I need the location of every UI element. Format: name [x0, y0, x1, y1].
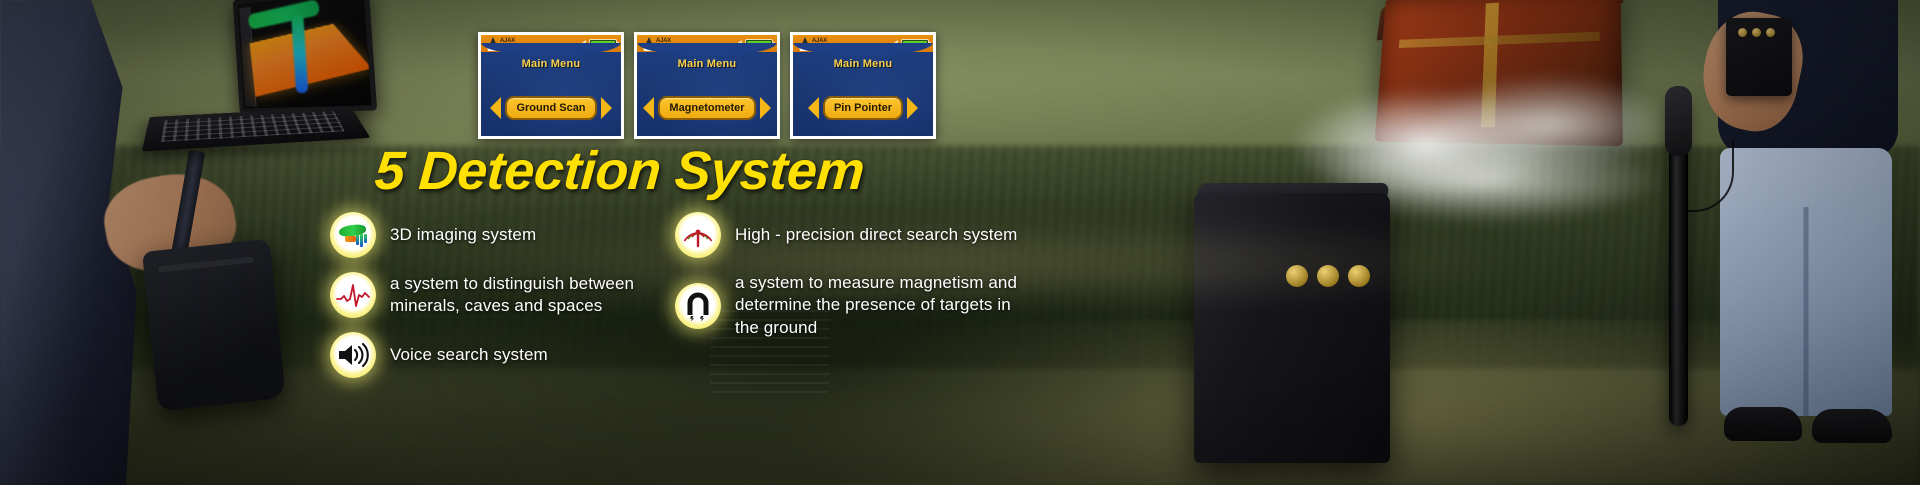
- 3d-terrain-icon: [330, 212, 376, 258]
- horseshoe-magnet-glyph: [685, 291, 711, 321]
- device-menu-panels: AJAX Main Menu Ground Scan AJA: [478, 32, 936, 139]
- panel-title: Main Menu: [793, 58, 933, 70]
- feature-item-mineral-distinction: a system to distinguish between minerals…: [330, 272, 670, 318]
- brand-logo-text: AJAX: [500, 38, 515, 44]
- status-indicators: [736, 39, 773, 48]
- selected-mode-button[interactable]: Ground Scan: [505, 96, 596, 120]
- brand-logo-text: AJAX: [812, 38, 827, 44]
- panel-title: Main Menu: [637, 58, 777, 70]
- mode-selector[interactable]: Ground Scan: [481, 96, 621, 120]
- waveform-icon: [330, 272, 376, 318]
- brand-logo-icon: [641, 36, 657, 51]
- brand-logo-icon: [485, 36, 501, 51]
- product-banner: AJAX Main Menu Ground Scan AJA: [0, 0, 1920, 485]
- status-indicators: [892, 39, 929, 48]
- chevron-left-icon[interactable]: [490, 97, 501, 119]
- device-panel-ground-scan[interactable]: AJAX Main Menu Ground Scan: [478, 32, 624, 139]
- feature-item-voice-search: Voice search system: [330, 332, 670, 378]
- panel-title: Main Menu: [481, 58, 621, 70]
- feature-label: a system to distinguish between minerals…: [390, 273, 670, 318]
- selected-mode-button[interactable]: Pin Pointer: [823, 96, 903, 120]
- feature-label: a system to measure magnetism and determ…: [735, 272, 1025, 339]
- status-indicators: [580, 39, 617, 48]
- device-status-bar: AJAX: [793, 35, 933, 52]
- speaker-icon: [892, 40, 898, 48]
- waveform-glyph: [336, 282, 370, 308]
- brand-logo-text: AJAX: [656, 38, 671, 44]
- feature-item-magnetism: a system to measure magnetism and determ…: [675, 272, 1025, 339]
- chevron-right-icon[interactable]: [907, 97, 918, 119]
- chevron-right-icon[interactable]: [760, 97, 771, 119]
- chevron-left-icon[interactable]: [808, 97, 819, 119]
- speaker-volume-glyph: [337, 342, 369, 368]
- feature-column-left: 3D imaging system a system to distinguis…: [330, 212, 670, 392]
- selected-mode-button[interactable]: Magnetometer: [658, 96, 755, 120]
- battery-icon: [901, 39, 929, 48]
- chevron-left-icon[interactable]: [643, 97, 654, 119]
- device-panel-pin-pointer[interactable]: AJAX Main Menu Pin Pointer: [790, 32, 936, 139]
- brand-logo-icon: [797, 36, 813, 51]
- device-panel-magnetometer[interactable]: AJAX Main Menu Magnetometer: [634, 32, 780, 139]
- mode-selector[interactable]: Magnetometer: [637, 96, 777, 120]
- device-status-bar: AJAX: [637, 35, 777, 52]
- antenna-signal-icon: [675, 212, 721, 258]
- speaker-volume-icon: [330, 332, 376, 378]
- feature-column-right: High - precision direct search system a …: [675, 212, 1025, 353]
- feature-label: High - precision direct search system: [735, 224, 1017, 246]
- mode-selector[interactable]: Pin Pointer: [793, 96, 933, 120]
- battery-icon: [589, 39, 617, 48]
- feature-label: Voice search system: [390, 344, 548, 366]
- feature-label: 3D imaging system: [390, 224, 536, 246]
- page-title: 5 Detection System: [373, 140, 867, 202]
- feature-item-3d-imaging: 3D imaging system: [330, 212, 670, 258]
- speaker-icon: [580, 40, 586, 48]
- device-status-bar: AJAX: [481, 35, 621, 52]
- antenna-signal-glyph: [683, 220, 713, 250]
- speaker-icon: [736, 40, 742, 48]
- chevron-right-icon[interactable]: [601, 97, 612, 119]
- feature-item-direct-search: High - precision direct search system: [675, 212, 1025, 258]
- battery-icon: [745, 39, 773, 48]
- horseshoe-magnet-icon: [675, 283, 721, 329]
